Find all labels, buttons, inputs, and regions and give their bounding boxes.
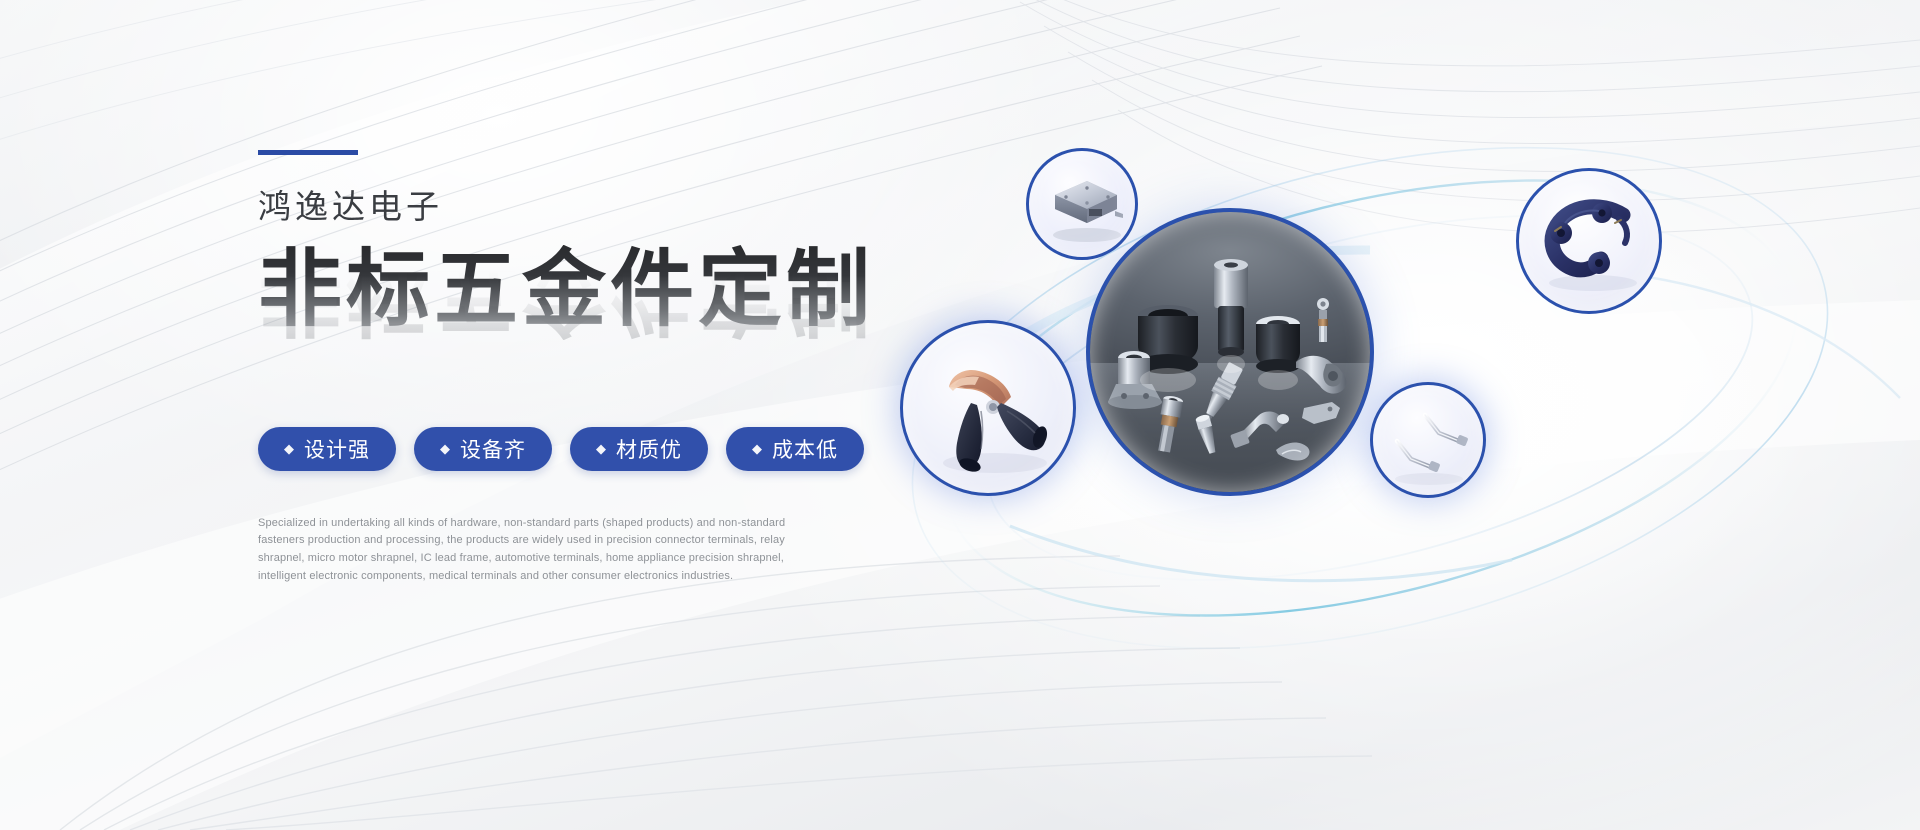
product-node-alligator-clip[interactable] bbox=[900, 320, 1076, 496]
product-node-retaining-ring[interactable] bbox=[1516, 168, 1662, 314]
precision-hardware-parts-icon bbox=[1090, 212, 1374, 496]
product-node-hardware-assortment[interactable] bbox=[1086, 208, 1374, 496]
description-paragraph: Specialized in undertaking all kinds of … bbox=[258, 515, 826, 586]
feature-pill-equipment[interactable]: ◆ 设备齐 bbox=[414, 427, 552, 471]
feature-pill-list: ◆ 设计强 ◆ 设备齐 ◆ 材质优 ◆ 成本低 bbox=[258, 427, 898, 471]
page-title: 非标五金件定制 bbox=[258, 245, 898, 334]
feature-pill-label: 材质优 bbox=[616, 434, 682, 464]
hero-text-column: 鸿逸达电子 非标五金件定制 非标五金件定制 ◆ 设计强 ◆ 设备齐 ◆ 材质优 … bbox=[258, 150, 898, 597]
diamond-icon: ◆ bbox=[752, 442, 763, 455]
brand-name: 鸿逸达电子 bbox=[258, 187, 898, 227]
hero-banner: 鸿逸达电子 非标五金件定制 非标五金件定制 ◆ 设计强 ◆ 设备齐 ◆ 材质优 … bbox=[0, 0, 1920, 830]
feature-pill-label: 设备齐 bbox=[460, 434, 526, 464]
feature-pill-label: 设计强 bbox=[304, 434, 370, 464]
copper-alligator-clip-icon bbox=[903, 323, 1076, 496]
product-node-terminal-pins[interactable] bbox=[1370, 382, 1486, 498]
diamond-icon: ◆ bbox=[440, 442, 451, 455]
product-showcase bbox=[900, 130, 1920, 690]
feature-pill-material[interactable]: ◆ 材质优 bbox=[570, 427, 708, 471]
headline-group: 非标五金件定制 非标五金件定制 bbox=[258, 245, 898, 383]
diamond-icon: ◆ bbox=[596, 442, 607, 455]
feature-pill-cost[interactable]: ◆ 成本低 bbox=[726, 427, 864, 471]
accent-rule bbox=[258, 150, 358, 155]
feature-pill-design[interactable]: ◆ 设计强 bbox=[258, 427, 396, 471]
diamond-icon: ◆ bbox=[284, 442, 295, 455]
blue-retaining-ring-bracket-icon bbox=[1519, 171, 1662, 314]
feature-pill-label: 成本低 bbox=[772, 434, 838, 464]
